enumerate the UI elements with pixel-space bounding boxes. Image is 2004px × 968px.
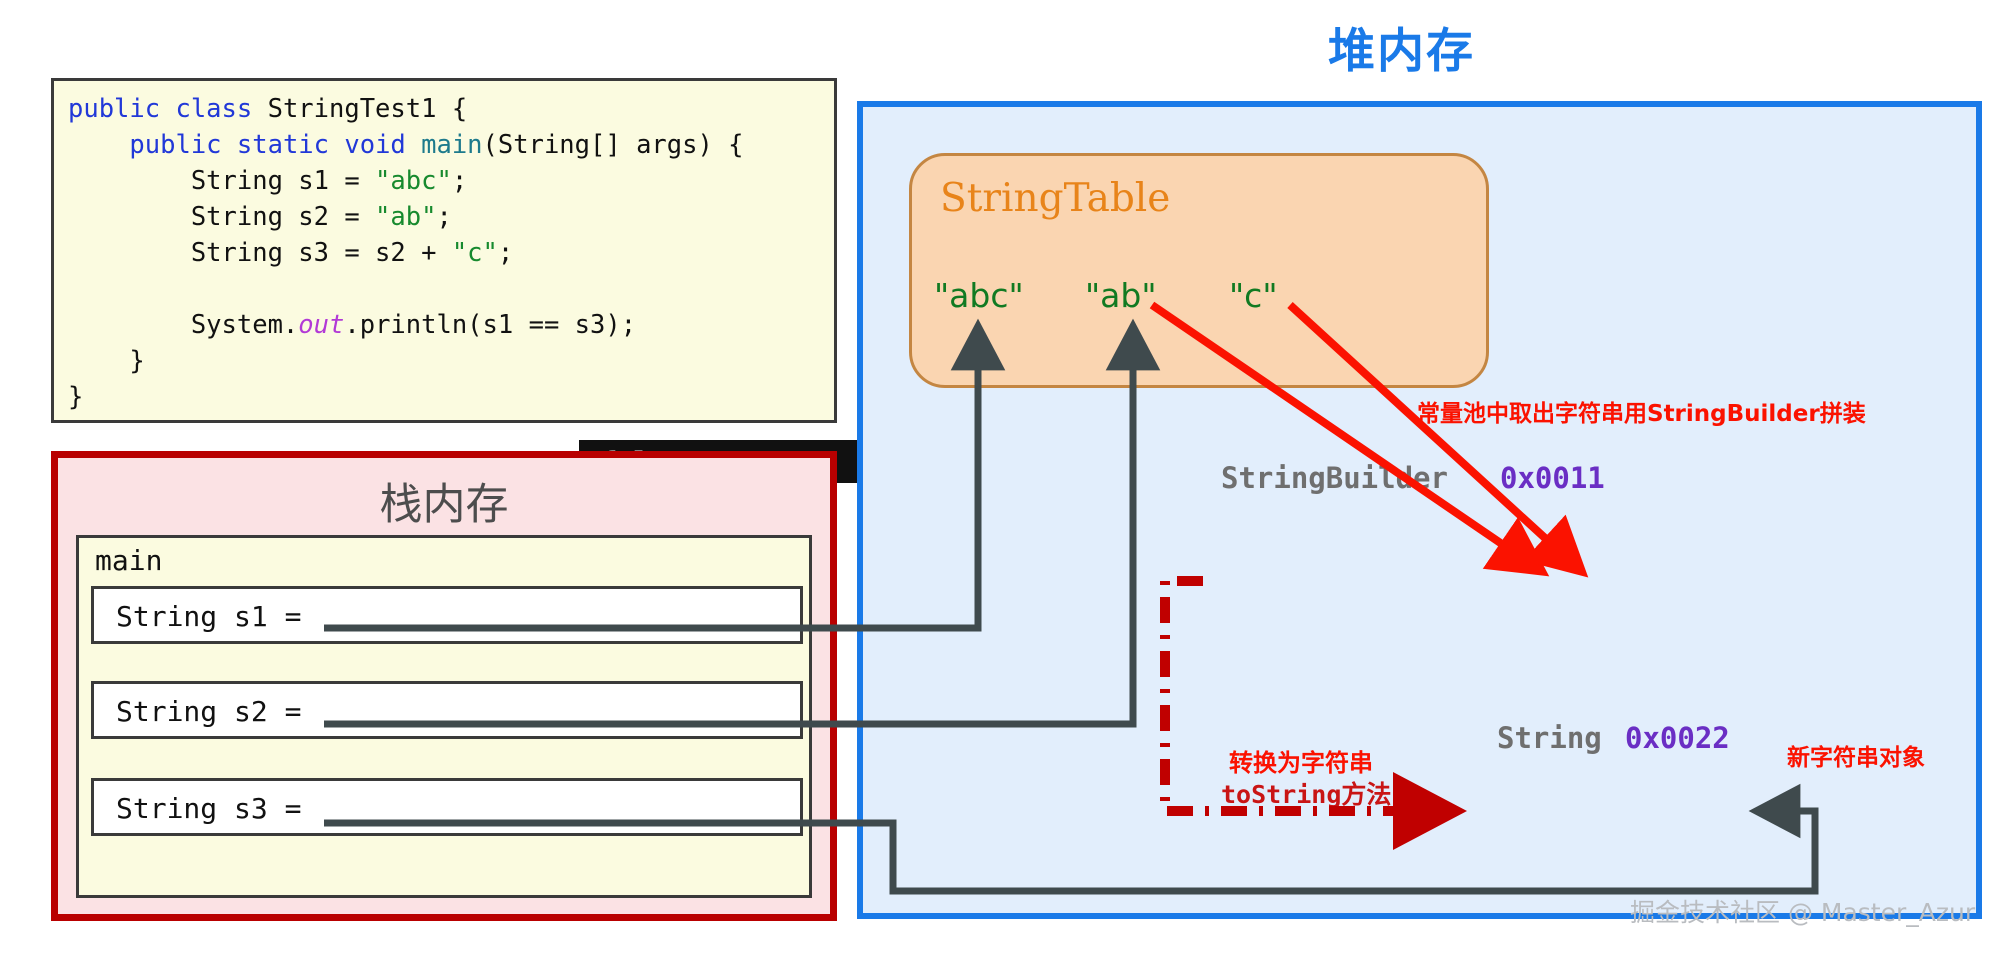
stack-variable-s3: String s3 = bbox=[91, 778, 803, 836]
stack-memory-title: 栈内存 bbox=[58, 470, 830, 532]
code-token: ; bbox=[436, 202, 451, 232]
annotation-tostring-line1: 转换为字符串 bbox=[1229, 743, 1373, 778]
code-token: class bbox=[175, 94, 267, 124]
stack-variable-s2: String s2 = bbox=[91, 681, 803, 739]
stack-variable-s3-label: String s3 = bbox=[116, 792, 301, 825]
code-token: (String[] args) { bbox=[483, 130, 744, 160]
stack-memory-panel: 栈内存 main String s1 = String s2 = String … bbox=[51, 451, 837, 921]
code-text: public class StringTest1 { public static… bbox=[68, 91, 744, 415]
heap-memory-title: 堆内存 bbox=[1328, 12, 1475, 81]
stack-variable-s1: String s1 = bbox=[91, 586, 803, 644]
stack-frame-label: main bbox=[95, 544, 162, 577]
code-token: static bbox=[237, 130, 344, 160]
code-token: "ab" bbox=[375, 202, 436, 232]
pool-entry-ab: "ab" bbox=[1085, 276, 1157, 315]
stack-variable-s2-label: String s2 = bbox=[116, 695, 301, 728]
code-token: out bbox=[298, 310, 344, 340]
code-snippet-panel: public class StringTest1 { public static… bbox=[51, 78, 837, 423]
code-token: String s3 = s2 + bbox=[68, 238, 452, 268]
code-token: public bbox=[68, 130, 237, 160]
code-token: "abc" bbox=[375, 166, 452, 196]
code-token: main bbox=[421, 130, 482, 160]
watermark-text: 掘金技术社区 @ Master_Azur bbox=[1630, 893, 1975, 929]
pool-entry-c: "c" bbox=[1229, 276, 1278, 315]
annotation-new-object: 新字符串对象 bbox=[1787, 738, 1925, 772]
string-builder-address: 0x0011 bbox=[1500, 461, 1605, 495]
annotation-tostring-line2: toString方法 bbox=[1221, 775, 1391, 811]
code-token: "c" bbox=[452, 238, 498, 268]
code-token: ; bbox=[498, 238, 513, 268]
code-token: String s2 = bbox=[68, 202, 375, 232]
code-token: public bbox=[68, 94, 175, 124]
stack-variable-s1-label: String s1 = bbox=[116, 600, 301, 633]
code-token: String s1 = bbox=[68, 166, 375, 196]
code-token: } bbox=[68, 346, 145, 376]
string-table-box: StringTable "abc" "ab" "c" bbox=[909, 153, 1489, 388]
stack-frame-main: main String s1 = String s2 = String s3 = bbox=[76, 535, 812, 898]
string-table-title: StringTable bbox=[940, 176, 1170, 221]
pool-entry-abc: "abc" bbox=[934, 276, 1024, 315]
string-object-type-label: String bbox=[1497, 721, 1602, 755]
annotation-pool-note: 常量池中取出字符串用StringBuilder拼装 bbox=[1417, 394, 1866, 428]
string-builder-type-label: StringBuilder bbox=[1221, 461, 1448, 495]
code-token: System. bbox=[68, 310, 298, 340]
code-token: ; bbox=[452, 166, 467, 196]
heap-memory-panel: StringTable "abc" "ab" "c" "abc" "abc" bbox=[857, 101, 1982, 919]
code-token: void bbox=[344, 130, 421, 160]
string-object-address: 0x0022 bbox=[1625, 721, 1730, 755]
code-token: StringTest1 { bbox=[268, 94, 468, 124]
code-token: } bbox=[68, 382, 83, 412]
code-token: .println(s1 == s3); bbox=[344, 310, 636, 340]
